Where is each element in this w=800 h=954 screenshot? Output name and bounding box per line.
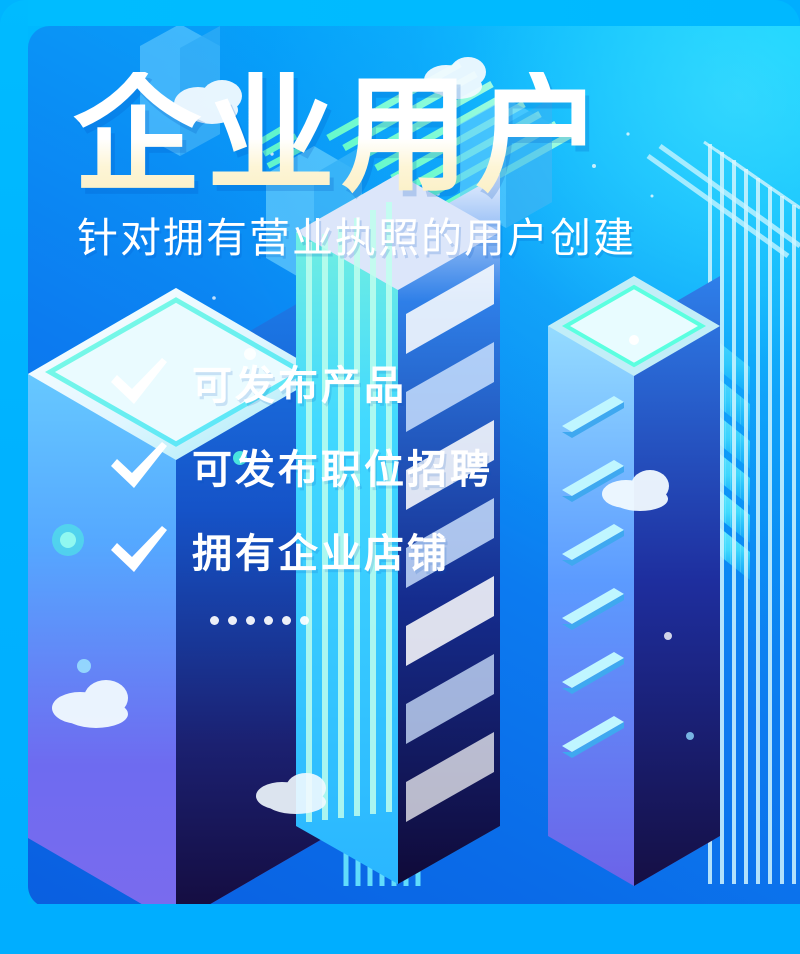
chevron-stack-large — [650, 327, 750, 580]
list-item: 拥有企业店铺 — [108, 512, 493, 588]
dot — [300, 616, 309, 625]
poster-inner-panel: 企业用户 针对拥有营业执照的用户创建 可发布产品 可发布职位招聘 拥有企业 — [28, 26, 800, 908]
feature-label: 可发布职位招聘 — [192, 437, 493, 495]
dot — [246, 616, 255, 625]
check-icon — [108, 524, 170, 576]
building-small-left — [50, 578, 130, 800]
building-ledge-tower — [548, 276, 720, 886]
cloud-center-low — [256, 773, 326, 814]
frame-bottom-strip — [0, 904, 800, 954]
list-item: 可发布职位招聘 — [108, 428, 493, 504]
cloud-right — [602, 470, 669, 511]
chevron-stack-small-left — [584, 524, 620, 602]
headline-block: 企业用户 针对拥有营业执照的用户创建 — [73, 72, 636, 261]
floating-block-small-right — [580, 562, 656, 658]
hatch-columns-far-right — [704, 142, 800, 884]
page-title: 企业用户 — [73, 72, 636, 200]
frame-top-strip — [0, 0, 800, 26]
dot — [264, 616, 273, 625]
frame-left-strip — [0, 0, 28, 954]
check-icon — [108, 440, 170, 492]
feature-list: 可发布产品 可发布职位招聘 拥有企业店铺 — [108, 344, 493, 596]
hatch-fan-right — [648, 146, 800, 256]
tower-ledges — [562, 396, 624, 758]
dot — [282, 616, 291, 625]
cloud-left — [52, 680, 128, 728]
poster-root: 企业用户 针对拥有营业执照的用户创建 可发布产品 可发布职位招聘 拥有企业 — [0, 0, 800, 954]
dot — [210, 616, 219, 625]
list-item: 可发布产品 — [108, 344, 493, 420]
dot — [228, 616, 237, 625]
ellipsis-dots — [210, 616, 309, 625]
check-icon — [108, 356, 170, 408]
page-subtitle: 针对拥有营业执照的用户创建 — [77, 216, 636, 261]
feature-label: 拥有企业店铺 — [192, 521, 450, 579]
feature-label: 可发布产品 — [192, 353, 407, 411]
